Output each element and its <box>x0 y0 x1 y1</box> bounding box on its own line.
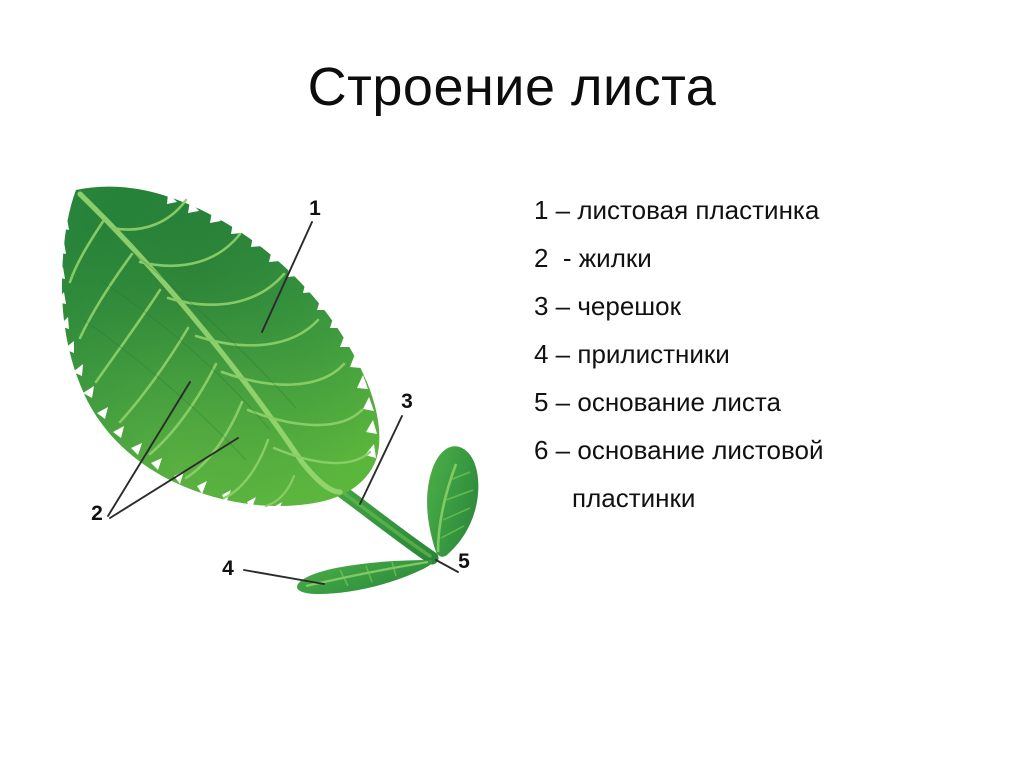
leader-line-5 <box>436 560 458 572</box>
legend-item-5: 5 – основание листа <box>534 378 1004 426</box>
legend-item-2: 2 - жилки <box>534 234 1004 282</box>
stipule-lower-shape <box>297 560 432 594</box>
legend-item-6: 6 – основание листовой <box>534 426 1004 474</box>
callout-number-3: 3 <box>401 390 413 413</box>
legend-item-3: 3 – черешок <box>534 282 1004 330</box>
page-title: Строение листа <box>0 58 1024 117</box>
callout-number-1: 1 <box>309 197 321 220</box>
callout-number-2: 2 <box>91 502 103 525</box>
legend-item-1: 1 – листовая пластинка <box>534 186 1004 234</box>
callout-number-5: 5 <box>458 550 470 573</box>
legend-item-4: 4 – прилистники <box>534 330 1004 378</box>
leaf-blade-shape <box>40 160 500 610</box>
slide-root: Строение листа <box>0 0 1024 767</box>
stipule-upper-shape <box>427 446 478 557</box>
legend-list: 1 – листовая пластинка 2 - жилки 3 – чер… <box>534 186 1004 522</box>
callout-number-4: 4 <box>222 557 234 580</box>
petiole-highlight <box>342 492 430 556</box>
legend-item-6-continuation: пластинки <box>534 474 1004 522</box>
leaf-diagram: 1 2 3 4 5 <box>40 160 500 610</box>
